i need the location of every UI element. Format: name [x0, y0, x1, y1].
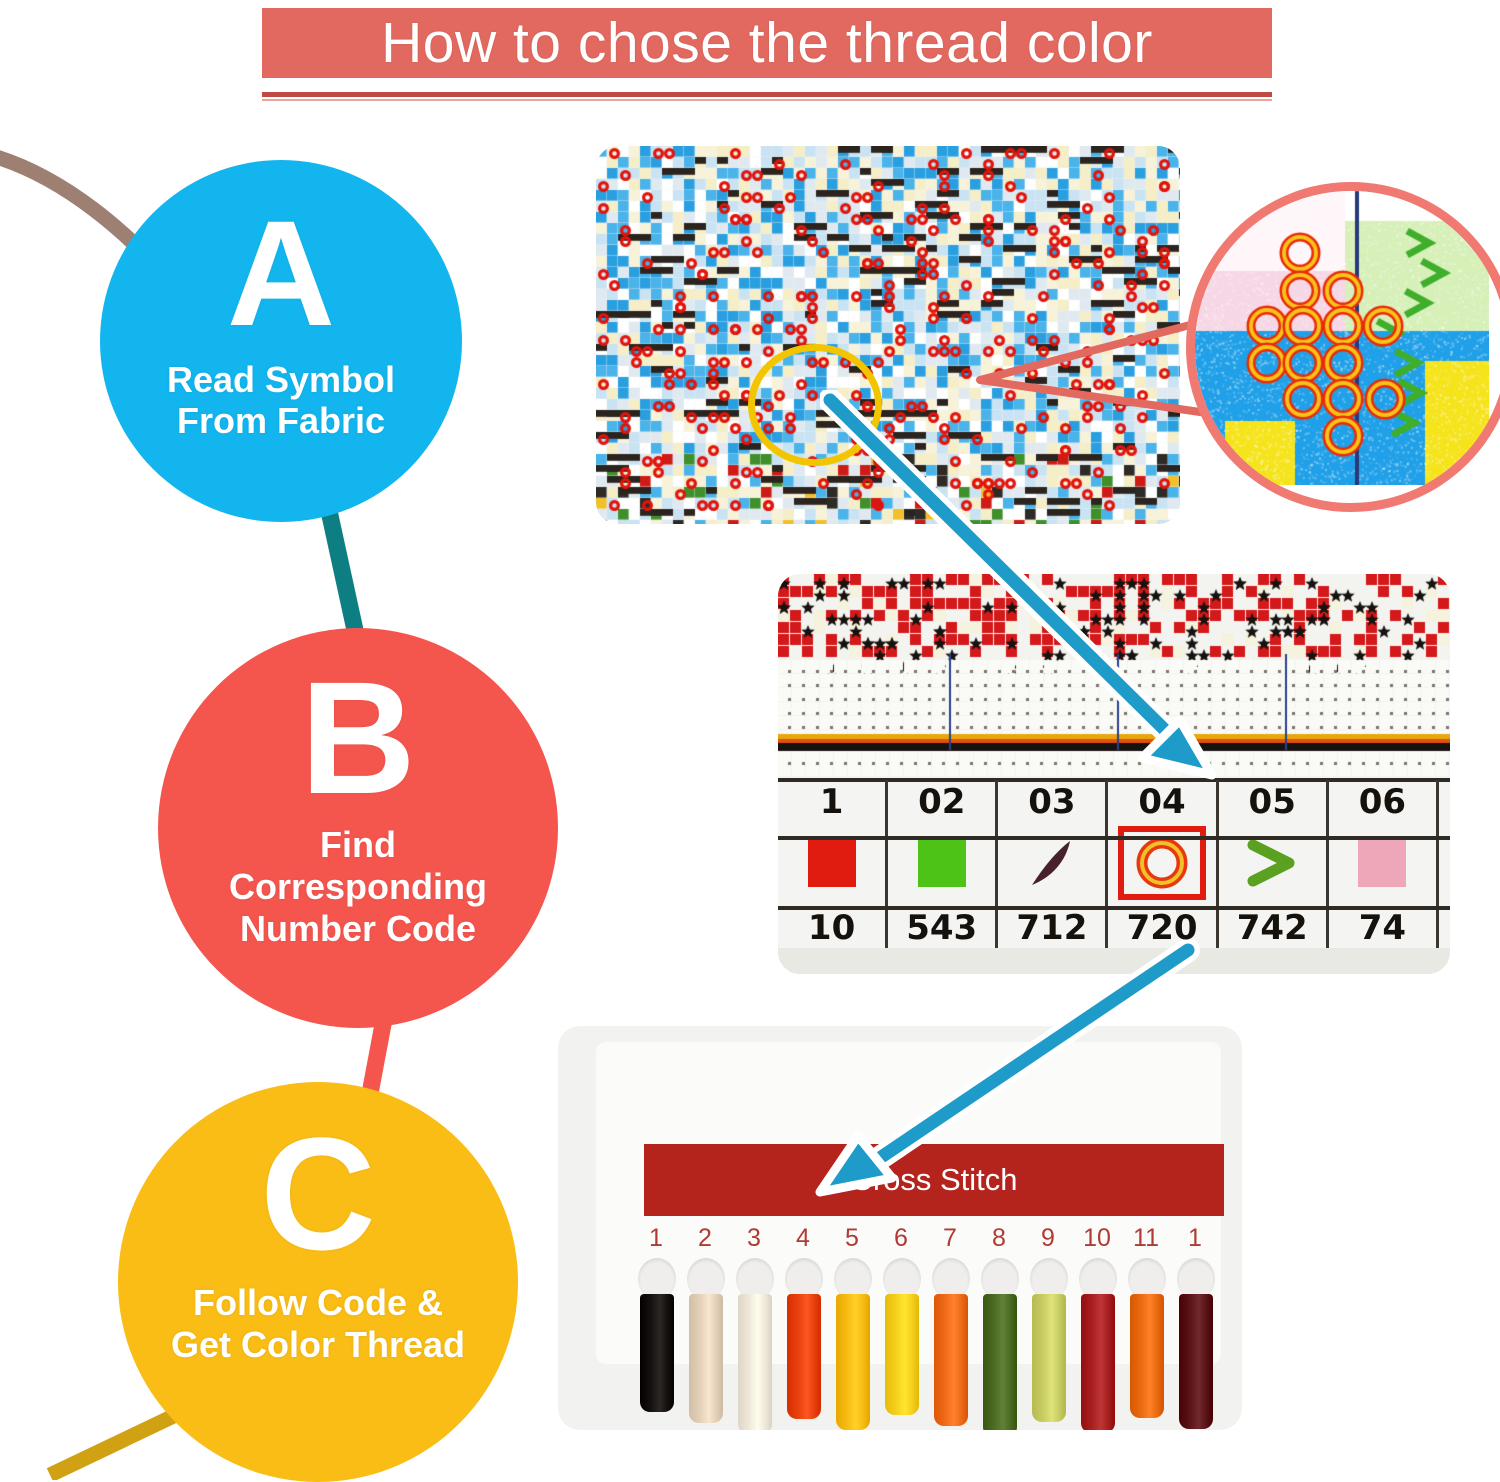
thread-skein — [689, 1294, 723, 1423]
thread-skein — [1081, 1294, 1115, 1430]
chart-column-symbol-dark-leaf — [998, 832, 1105, 894]
thread-skein — [836, 1294, 870, 1430]
thread-number: 8 — [979, 1224, 1019, 1253]
thread-number: 3 — [734, 1224, 774, 1253]
thread-skein — [787, 1294, 821, 1419]
thread-number: 10 — [1077, 1224, 1117, 1253]
thread-number: 2 — [685, 1224, 725, 1253]
thread-number: 4 — [783, 1224, 823, 1253]
arrow-chart-to-threads-icon — [780, 940, 1200, 1200]
chart-column-number: 03 — [998, 782, 1105, 822]
chart-column-number: 05 — [1219, 782, 1326, 822]
thread-number-row: 12345678910111 — [636, 1224, 1226, 1258]
title-underline-thick — [262, 92, 1272, 97]
chart-column-number: 02 — [888, 782, 995, 822]
step-label-b: Find Corresponding Number Code — [229, 824, 487, 949]
step-letter-a: A — [227, 202, 335, 345]
chart-column-number: 06 — [1329, 782, 1436, 822]
thread-skein-row — [636, 1294, 1236, 1430]
thread-number: 5 — [832, 1224, 872, 1253]
arrow-fabric-to-chart-icon — [820, 390, 1220, 780]
fabric-magnifier — [1186, 182, 1500, 512]
thread-number: 1 — [1175, 1224, 1215, 1253]
thread-number: 1 — [636, 1224, 676, 1253]
chart-column: 110 — [778, 780, 888, 950]
thread-number: 11 — [1126, 1224, 1166, 1253]
chart-column: 04720 — [1108, 780, 1218, 950]
thread-skein — [1179, 1294, 1213, 1429]
chart-column-symbol-pink-square — [1329, 832, 1436, 894]
title-underline-thin — [262, 99, 1272, 101]
thread-skein — [1130, 1294, 1164, 1418]
chart-column-number: 1 — [778, 782, 885, 822]
chart-column-symbol-green-chevron — [1219, 832, 1326, 894]
thread-skein — [885, 1294, 919, 1415]
step-circle-b[interactable]: B Find Corresponding Number Code — [158, 628, 558, 1028]
chart-column: 03712 — [998, 780, 1108, 950]
step-label-c: Follow Code & Get Color Thread — [171, 1282, 465, 1366]
chart-line-mid-lower — [778, 906, 1450, 910]
step-letter-c: C — [260, 1118, 376, 1270]
thread-number: 6 — [881, 1224, 921, 1253]
thread-skein — [640, 1294, 674, 1412]
step-circle-a[interactable]: A Read Symbol From Fabric — [100, 160, 462, 522]
chart-column: 02543 — [888, 780, 998, 950]
chart-column-code: 742 — [1219, 908, 1326, 948]
thread-skein — [1032, 1294, 1066, 1422]
chart-column-code: 74 — [1329, 908, 1436, 948]
chart-column-number: 04 — [1108, 782, 1215, 822]
chart-column-symbol-green-square — [888, 832, 995, 894]
chart-grid: 110025430371204720057420674 — [778, 780, 1450, 950]
step-letter-b: B — [300, 662, 416, 814]
thread-number: 7 — [930, 1224, 970, 1253]
chart-column-symbol-red-circle — [1108, 832, 1215, 894]
magnifier-canvas — [1195, 191, 1489, 485]
thread-skein — [983, 1294, 1017, 1430]
page-title: How to chose the thread color — [381, 10, 1153, 76]
thread-skein — [738, 1294, 772, 1430]
step-label-a: Read Symbol From Fabric — [167, 359, 395, 443]
chart-column-symbol-red-square — [778, 832, 885, 894]
step-circle-c[interactable]: C Follow Code & Get Color Thread — [118, 1082, 518, 1482]
thread-number: 9 — [1028, 1224, 1068, 1253]
chart-line-mid-upper — [778, 836, 1450, 840]
title-banner: How to chose the thread color — [262, 8, 1272, 78]
chart-column: 05742 — [1219, 780, 1329, 950]
chart-column: 0674 — [1329, 780, 1439, 950]
thread-skein — [934, 1294, 968, 1426]
